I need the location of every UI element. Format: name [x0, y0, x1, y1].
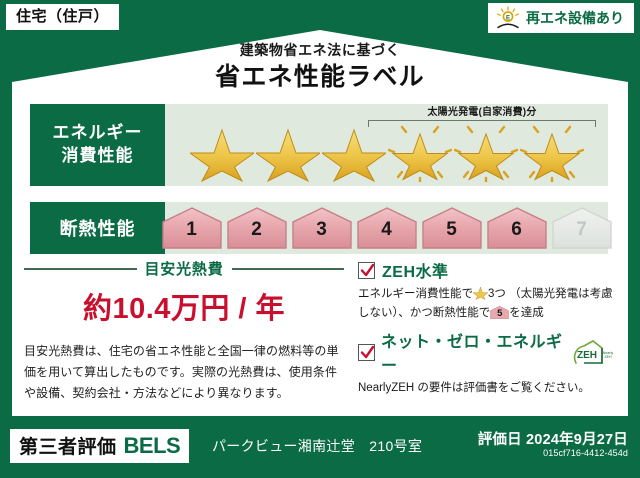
renewable-equipment-badge: E 再エネ設備あり: [488, 3, 634, 33]
energy-performance-row: エネルギー 消費性能 太陽光発電(自家消費)分: [30, 104, 608, 186]
insulation-performance-panel: 1 2 3 4 5: [165, 202, 608, 254]
bels-jp-label: 第三者評価: [19, 432, 117, 459]
zeh-standard-description: エネルギー消費性能で3つ （太陽光発電は考慮しない）、かつ断熱性能で5を達成: [358, 285, 614, 322]
heading-rule-right: [232, 268, 345, 270]
zeh-standard-title: ZEH水準: [382, 258, 449, 282]
net-zero-description: NearlyZEH の要件は評価書をご覧ください。: [358, 379, 614, 398]
energy-star-3: [322, 120, 386, 182]
property-name: パークビュー湘南辻堂 210号室: [212, 436, 422, 456]
svg-text:ZEH: ZEH: [577, 350, 597, 361]
svg-text:E: E: [506, 15, 510, 21]
insulation-label-text: 断熱性能: [60, 215, 136, 241]
bels-en-label: BELS: [124, 433, 181, 459]
zeh-desc-part1: エネルギー消費性能で: [358, 288, 473, 300]
label-title: 省エネ性能ラベル: [0, 57, 640, 93]
bels-badge: 第三者評価 BELS: [10, 429, 189, 463]
energy-cost-heading-row: 目安光熱費: [24, 258, 344, 279]
zeh-standard-check-icon: [358, 262, 375, 279]
svg-text:ZEH: ZEH: [604, 355, 612, 359]
zeh-block: ZEH水準 エネルギー消費性能で3つ （太陽光発電は考慮しない）、かつ断熱性能で…: [358, 258, 614, 400]
energy-star-4-solar: [388, 120, 452, 182]
energy-performance-panel: 太陽光発電(自家消費)分: [165, 104, 608, 186]
insulation-grade-scale: 1 2 3 4 5: [165, 202, 608, 254]
insulation-grade-3: 3: [291, 206, 353, 250]
net-zero-energy-item: ネット・ゼロ・エネルギー ZEH Nearly ZEH NearlyZEH の要…: [358, 328, 614, 398]
energy-cost-heading: 目安光熱費: [145, 258, 224, 279]
insulation-grade-2: 2: [226, 206, 288, 250]
renewable-badge-label: 再エネ設備あり: [526, 10, 624, 26]
evaluation-id: 015cf716-4412-454d: [543, 448, 628, 458]
insulation-grade-1: 1: [161, 206, 223, 250]
heading-rule-left: [24, 268, 137, 270]
energy-star-rating: [165, 120, 608, 184]
energy-performance-label: エネルギー 消費性能: [30, 104, 165, 186]
insulation-grade-5: 5: [421, 206, 483, 250]
housing-type-badge: 住宅（住戸）: [6, 4, 119, 30]
insulation-grade-4: 4: [356, 206, 418, 250]
evaluation-date: 評価日 2024年9月27日: [478, 428, 628, 449]
insulation-grade-6: 6: [486, 206, 548, 250]
energy-cost-note: 目安光熱費は、住宅の省エネ性能と全国一律の燃料等の単価を用いて算出したものです。…: [24, 341, 344, 404]
zeh-desc-part3: を達成: [509, 307, 544, 319]
inline-house-badge-icon: 5: [490, 305, 509, 320]
net-zero-title: ネット・ゼロ・エネルギー: [381, 328, 563, 376]
label-footer: 第三者評価 BELS パークビュー湘南辻堂 210号室 評価日 2024年9月2…: [0, 416, 640, 478]
inline-house-number: 5: [490, 305, 509, 320]
net-zero-check-icon: [358, 344, 375, 361]
energy-label-root: 住宅（住戸） E 再エネ設備あり 建築物省エネ法に基づく 省エネ性能ラベル: [0, 0, 640, 478]
insulation-performance-row: 断熱性能 1 2 3 4: [30, 202, 608, 254]
energy-label-line2: 消費性能: [62, 145, 134, 168]
inline-star-icon: [473, 285, 488, 300]
zeh-standard-item: ZEH水準 エネルギー消費性能で3つ （太陽光発電は考慮しない）、かつ断熱性能で…: [358, 258, 614, 322]
sun-solar-icon: E: [495, 6, 521, 30]
zeh-logo-icon: ZEH Nearly ZEH: [572, 339, 614, 365]
solar-bracket-label: 太陽光発電(自家消費)分: [368, 107, 596, 119]
energy-label-line1: エネルギー: [53, 122, 143, 145]
energy-star-2: [256, 120, 320, 182]
energy-star-1: [190, 120, 254, 182]
energy-star-6-solar: [520, 120, 584, 182]
energy-star-5-solar: [454, 120, 518, 182]
insulation-grade-7: 7: [551, 206, 613, 250]
zeh-standard-title-row: ZEH水準: [358, 258, 614, 282]
insulation-performance-label: 断熱性能: [30, 202, 165, 254]
net-zero-title-row: ネット・ゼロ・エネルギー ZEH Nearly ZEH: [358, 328, 614, 376]
energy-cost-value: 約10.4万円 / 年: [24, 285, 344, 327]
energy-cost-block: 目安光熱費 約10.4万円 / 年 目安光熱費は、住宅の省エネ性能と全国一律の燃…: [24, 258, 344, 404]
